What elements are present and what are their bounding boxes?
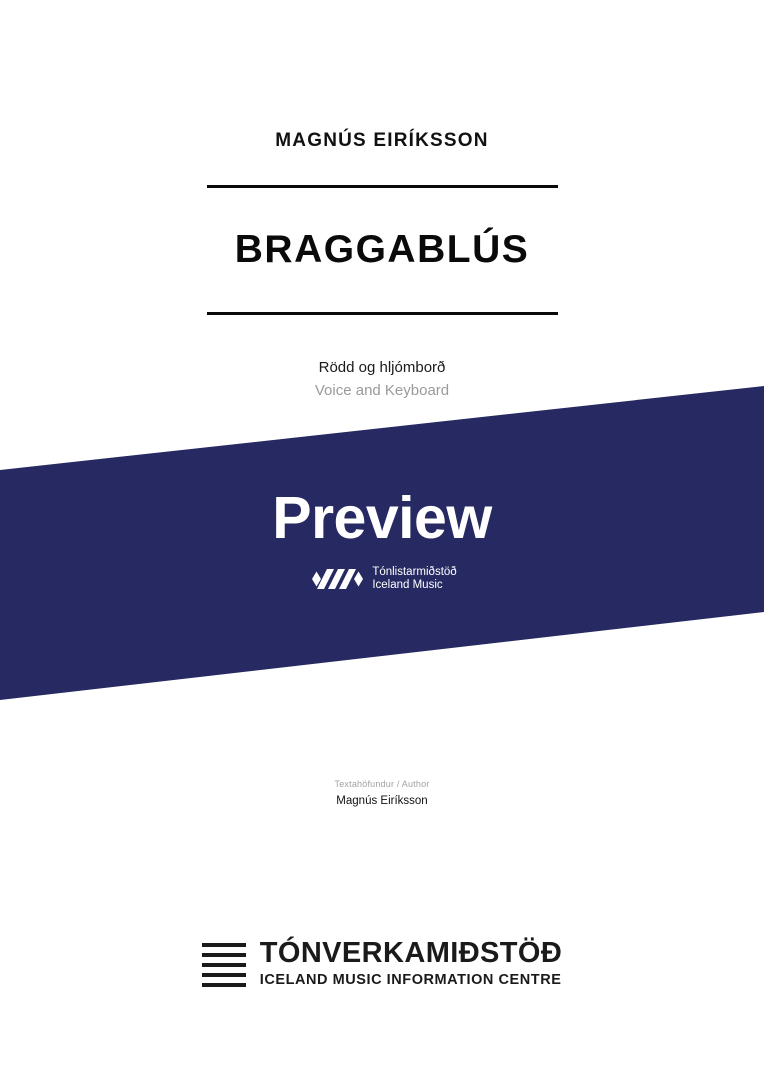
iceland-music-logo-icon	[307, 566, 363, 592]
publisher-logo-text: TÓNVERKAMIÐSTÖÐ ICELAND MUSIC INFORMATIO…	[260, 938, 562, 991]
watermark-logo-name-icelandic: Tónlistarmiðstöð	[372, 566, 456, 579]
title-rule-top	[207, 185, 558, 188]
title-page: MAGNÚS EIRÍKSSON BRAGGABLÚS Rödd og hljó…	[0, 0, 764, 1080]
instrumentation-english: Voice and Keyboard	[0, 382, 764, 399]
title-rule-bottom	[207, 312, 558, 315]
publisher-name-icelandic: TÓNVERKAMIÐSTÖÐ	[260, 938, 562, 968]
composer-name: MAGNÚS EIRÍKSSON	[0, 130, 764, 152]
page-title: BRAGGABLÚS	[0, 228, 764, 272]
preview-label: Preview	[0, 489, 764, 548]
publisher-logo: TÓNVERKAMIÐSTÖÐ ICELAND MUSIC INFORMATIO…	[0, 938, 764, 991]
watermark-logo-text: Tónlistarmiðstöð Iceland Music	[372, 566, 456, 592]
author-role-label: Textahöfundur / Author	[0, 779, 764, 789]
instrumentation-icelandic: Rödd og hljómborð	[0, 359, 764, 376]
author-name: Magnús Eiríksson	[0, 795, 764, 807]
watermark-logo: Tónlistarmiðstöð Iceland Music	[0, 566, 764, 592]
watermark-logo-name-english: Iceland Music	[372, 579, 456, 592]
publisher-name-english: ICELAND MUSIC INFORMATION CENTRE	[260, 968, 562, 990]
publisher-bars-icon	[202, 941, 246, 987]
